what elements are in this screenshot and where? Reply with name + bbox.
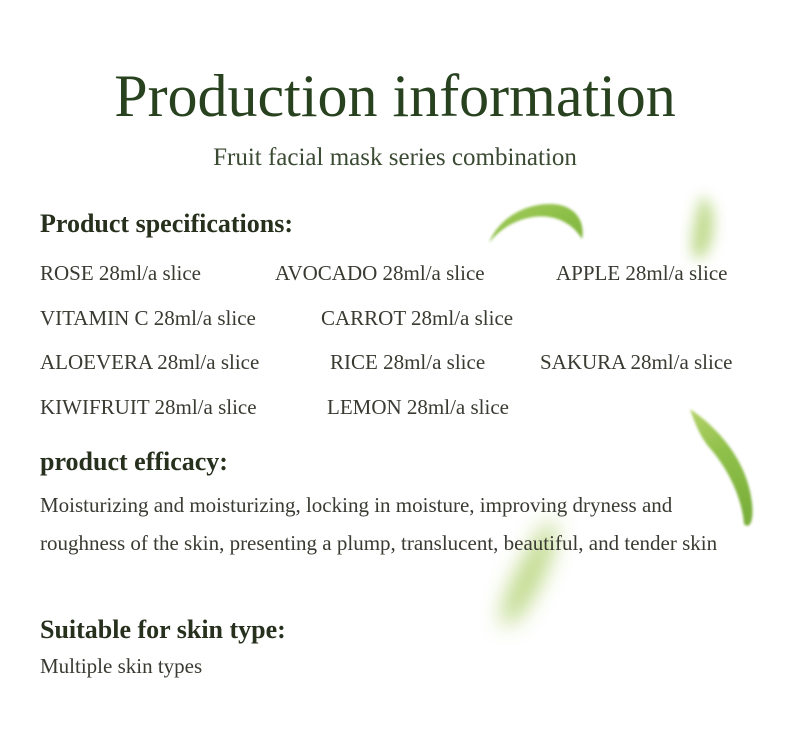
spec-row: KIWIFRUIT 28ml/a slice LEMON 28ml/a slic… [0, 394, 790, 420]
spec-item: ROSE 28ml/a slice [40, 260, 201, 286]
page-title: Production information [0, 62, 790, 130]
section-heading-efficacy: product efficacy: [40, 446, 228, 478]
spec-item: CARROT 28ml/a slice [321, 305, 513, 331]
spec-row: ALOEVERA 28ml/a slice RICE 28ml/a slice … [0, 349, 790, 375]
section-heading-skin-type: Suitable for skin type: [40, 614, 286, 646]
efficacy-body-text: Moisturizing and moisturizing, locking i… [40, 486, 752, 562]
skin-type-body-text: Multiple skin types [40, 652, 202, 680]
section-heading-specifications: Product specifications: [40, 208, 293, 240]
product-information-page: Production information Fruit facial mask… [0, 0, 790, 738]
spec-item: SAKURA 28ml/a slice [540, 349, 733, 375]
spec-item: RICE 28ml/a slice [330, 349, 485, 375]
spec-item: LEMON 28ml/a slice [327, 394, 509, 420]
page-content: Production information Fruit facial mask… [0, 0, 790, 738]
spec-item: VITAMIN C 28ml/a slice [40, 305, 256, 331]
spec-item: APPLE 28ml/a slice [556, 260, 728, 286]
spec-item: ALOEVERA 28ml/a slice [40, 349, 259, 375]
spec-item: AVOCADO 28ml/a slice [275, 260, 485, 286]
spec-item: KIWIFRUIT 28ml/a slice [40, 394, 257, 420]
spec-row: ROSE 28ml/a slice AVOCADO 28ml/a slice A… [0, 260, 790, 286]
spec-row: VITAMIN C 28ml/a slice CARROT 28ml/a sli… [0, 305, 790, 331]
page-subtitle: Fruit facial mask series combination [0, 143, 790, 173]
